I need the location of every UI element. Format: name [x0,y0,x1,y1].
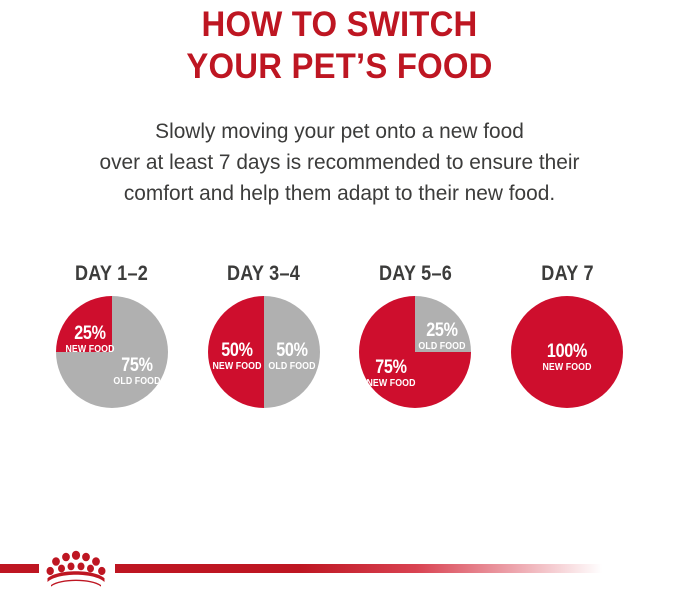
pie-cell-day-1-2: DAY 1–2 25% NEW FOOD 75% OLD FOOD [36,262,188,442]
pie-cell-day-3-4: DAY 3–4 50% NEW FOOD 50% OLD FOOD [188,262,340,442]
footer-bar-right [115,564,602,573]
infographic-page: HOW TO SWITCH YOUR PET’S FOOD Slowly mov… [0,0,679,594]
title-line-2: YOUR PET’S FOOD [20,46,658,88]
pie-chart-day-1-2: 25% NEW FOOD 75% OLD FOOD [56,296,168,408]
footer-bar-left [0,564,39,573]
slice-percent: 50% [213,341,261,360]
day-label-3: DAY 5–6 [379,262,452,286]
slice-percent: 25% [418,321,467,340]
slice-percent: 75% [366,358,417,377]
slice-sublabel: NEW FOOD [365,377,418,390]
slice-label-old-food: 75% OLD FOOD [106,356,168,388]
slice-sublabel: OLD FOOD [267,360,316,373]
pie-cell-day-7: DAY 7 100% NEW FOOD [491,262,643,442]
day-label-2: DAY 3–4 [227,262,300,286]
slice-sublabel: NEW FOOD [212,360,261,373]
slice-label-new-food: 100% NEW FOOD [537,342,597,374]
pie-chart-day-7: 100% NEW FOOD [511,296,623,408]
title-line-1: HOW TO SWITCH [20,4,658,46]
footer [0,540,679,594]
slice-sublabel: NEW FOOD [541,361,594,374]
slice-sublabel: NEW FOOD [63,343,116,356]
slice-percent: 100% [542,342,593,361]
day-label-1: DAY 1–2 [75,262,148,286]
slice-percent: 75% [111,356,164,375]
slice-label-new-food: 25% NEW FOOD [60,324,120,356]
intro-line-3: comfort and help them adapt to their new… [10,178,669,209]
slice-label-old-food: 50% OLD FOOD [264,341,320,373]
pie-chart-day-3-4: 50% NEW FOOD 50% OLD FOOD [208,296,320,408]
slice-label-new-food: 50% NEW FOOD [209,341,265,373]
slice-sublabel: OLD FOOD [110,375,165,388]
slice-percent: 50% [268,341,316,360]
pie-chart-day-5-6: 25% OLD FOOD 75% NEW FOOD [359,296,471,408]
pie-chart-row: DAY 1–2 25% NEW FOOD 75% OLD FOOD DAY 3–… [0,262,679,442]
slice-label-old-food: 25% OLD FOOD [413,321,471,353]
crown-logo-icon [44,549,108,587]
slice-sublabel: OLD FOOD [417,340,468,353]
intro-line-1: Slowly moving your pet onto a new food [10,116,669,147]
day-label-4: DAY 7 [541,262,594,286]
pie-cell-day-5-6: DAY 5–6 25% OLD FOOD 75% NEW FOOD [340,262,492,442]
intro-paragraph: Slowly moving your pet onto a new food o… [10,116,669,209]
slice-label-new-food: 75% NEW FOOD [361,358,421,390]
intro-line-2: over at least 7 days is recommended to e… [10,147,669,178]
slice-percent: 25% [64,324,115,343]
page-title: HOW TO SWITCH YOUR PET’S FOOD [20,4,658,88]
